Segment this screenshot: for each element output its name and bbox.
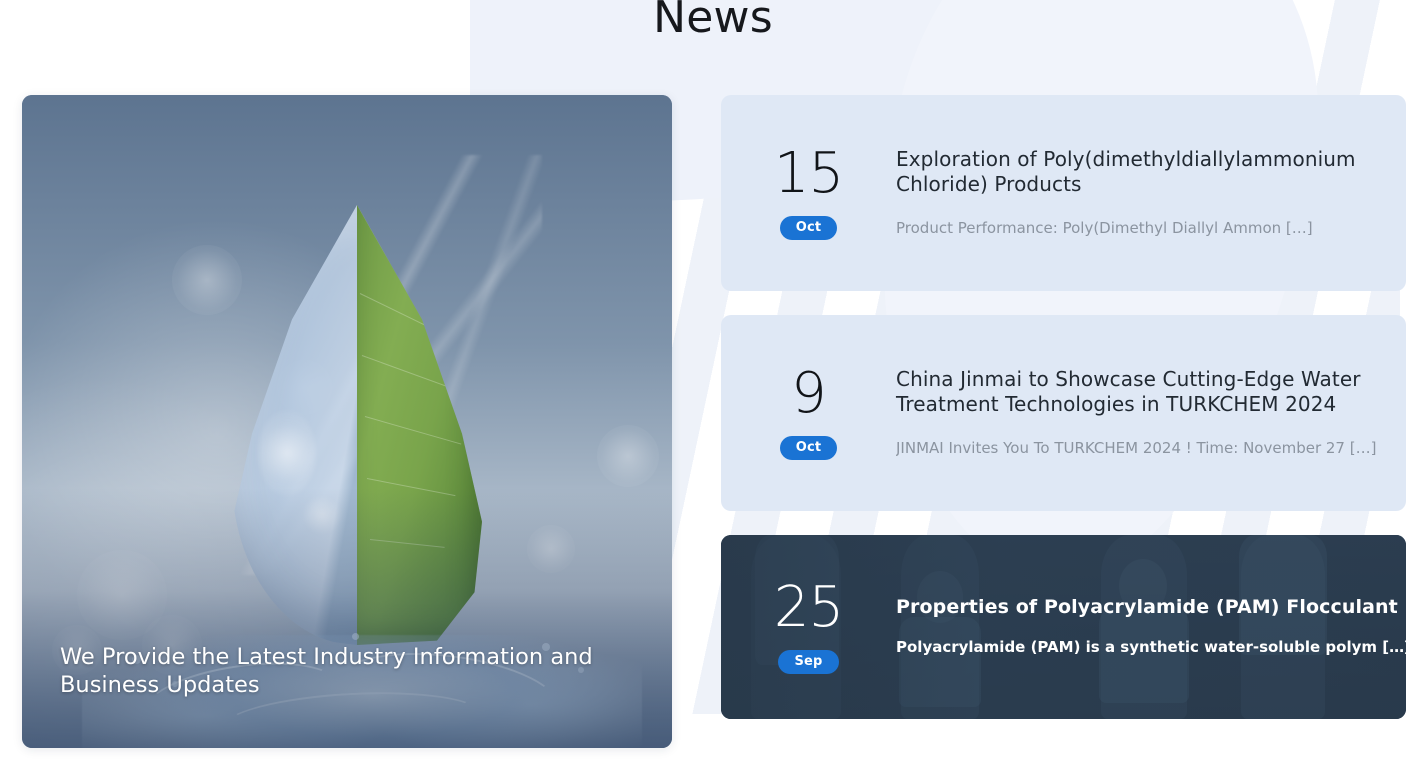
news-list: 15 Oct Exploration of Poly(dimethyldiall…: [721, 95, 1406, 719]
leaf-vein: [362, 355, 463, 393]
bokeh-circle: [597, 425, 659, 487]
leaf-vein: [359, 293, 458, 342]
news-excerpt: Polyacrylamide (PAM) is a synthetic wate…: [896, 637, 1406, 657]
news-date: 15 Oct: [721, 146, 896, 240]
news-card[interactable]: 15 Oct Exploration of Poly(dimethyldiall…: [721, 95, 1406, 291]
featured-image-card[interactable]: We Provide the Latest Industry Informati…: [22, 95, 672, 748]
news-card-body: Exploration of Poly(dimethyldiallylammon…: [896, 147, 1406, 238]
featured-image-caption: We Provide the Latest Industry Informati…: [60, 644, 638, 700]
news-card[interactable]: 9 Oct China Jinmai to Showcase Cutting-E…: [721, 315, 1406, 511]
news-excerpt: JINMAI Invites You To TURKCHEM 2024 ! Ti…: [896, 438, 1376, 458]
news-date: 9 Oct: [721, 366, 896, 460]
droplet-highlight: [258, 410, 316, 496]
news-date-month-badge: Sep: [778, 650, 838, 674]
news-card-body: Properties of Polyacrylamide (PAM) Flocc…: [896, 596, 1406, 657]
page-title: News: [0, 0, 1426, 43]
leaf-vein: [364, 416, 460, 445]
image-scrim: [22, 488, 672, 748]
news-card[interactable]: 25 Sep Properties of Polyacrylamide (PAM…: [721, 535, 1406, 719]
news-date-day: 15: [774, 146, 843, 202]
news-excerpt: Product Performance: Poly(Dimethyl Diall…: [896, 218, 1372, 238]
news-date-day: 9: [791, 366, 826, 422]
news-title[interactable]: China Jinmai to Showcase Cutting-Edge Wa…: [896, 367, 1376, 416]
news-page: News: [0, 0, 1426, 770]
news-date-day: 25: [774, 580, 843, 636]
news-card-body: China Jinmai to Showcase Cutting-Edge Wa…: [896, 367, 1406, 458]
news-title[interactable]: Properties of Polyacrylamide (PAM) Flocc…: [896, 596, 1406, 619]
news-title[interactable]: Exploration of Poly(dimethyldiallylammon…: [896, 147, 1372, 196]
news-date-month-badge: Oct: [780, 216, 838, 240]
page-content: News: [0, 0, 1426, 770]
news-date-month-badge: Oct: [780, 436, 838, 460]
news-date: 25 Sep: [721, 580, 896, 674]
